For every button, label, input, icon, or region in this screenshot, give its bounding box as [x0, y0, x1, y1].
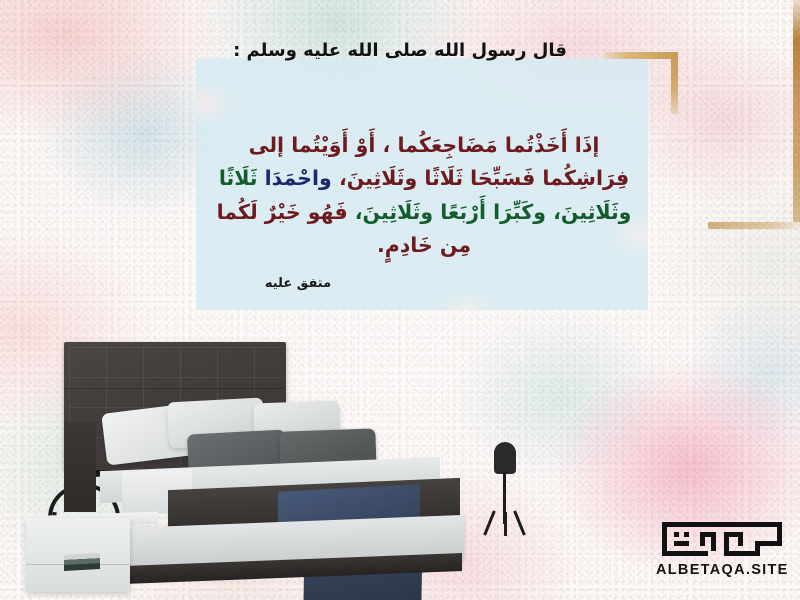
- stacked-books: [64, 553, 100, 571]
- frame-edge-left-icon: [793, 0, 800, 222]
- albetaqa-kufic-logo-icon: [660, 520, 784, 560]
- poster-canvas: قال رسول الله صلى الله عليه وسلم : إذَا …: [0, 0, 800, 600]
- bedroom-illustration: [18, 336, 538, 576]
- hadith-attribution: متفق عليه: [228, 276, 368, 291]
- hadith-body: إذَا أَخَذْتُما مَضَاجِعَكُما ، أَوْ أَو…: [214, 96, 634, 262]
- floor-lamp-icon: [480, 442, 532, 534]
- hadith-intro-line: قال رسول الله صلى الله عليه وسلم :: [0, 40, 800, 61]
- frame-corner-bottom-left-icon: [708, 222, 800, 229]
- logo-wordmark: ALBETAQA.SITE: [656, 562, 784, 578]
- headboard-side-panel: [64, 422, 96, 512]
- hadith-segment-2: واحْمَدَا: [258, 166, 339, 190]
- site-logo[interactable]: ALBETAQA.SITE: [656, 520, 784, 582]
